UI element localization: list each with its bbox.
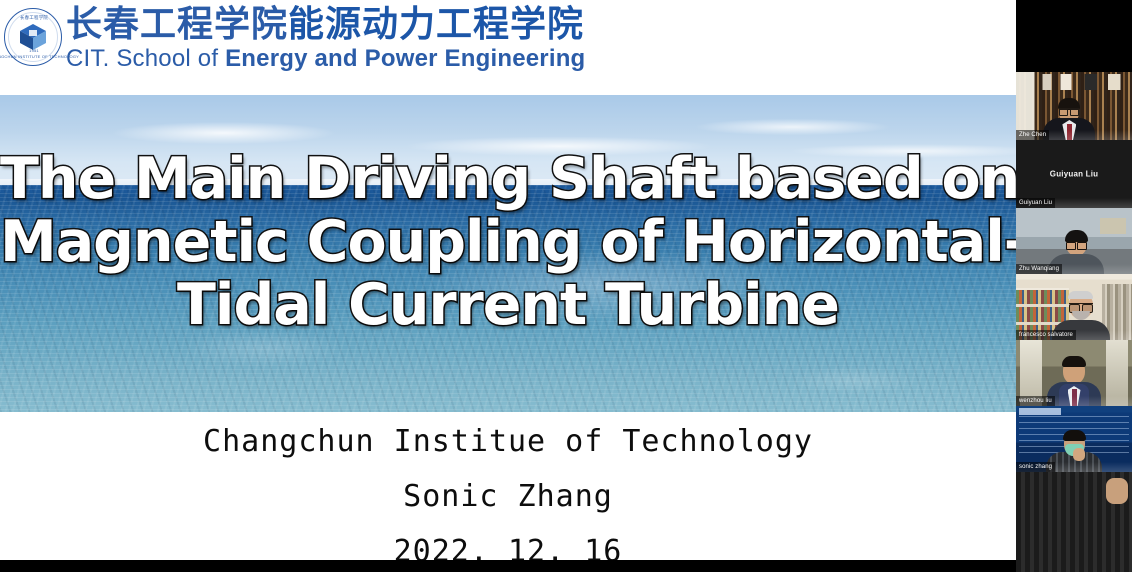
participant-name-label: francesco salvatore [1016,330,1076,340]
wordmark-chinese-school: 能源动力工程学院 [288,4,584,45]
participant-video-person [1049,358,1099,406]
wall-frames [1037,74,1128,90]
participant-tile-francesco-salvatore[interactable]: francesco salvatore [1016,274,1132,340]
wordmark-english: CIT. School of Energy and Power Engineer… [66,45,585,73]
participant-tile-sonic-zhang[interactable]: sonic zhang [1016,406,1132,472]
filmstrip-top-gap [1016,0,1132,72]
glasses-icon [1059,108,1079,113]
glasses-icon [1069,303,1093,310]
participant-video-person [1096,472,1130,518]
title-line-2: Magnetic Coupling of Horizontal-axis [0,211,1016,274]
participant-center-name: Guiyuan Liu [1016,170,1132,179]
logo-ring-top-text: 长春工程学院 [20,15,48,21]
title-line-1: The Main Driving Shaft based on [0,148,1016,211]
participant-name-label: Zhe Chen [1016,130,1049,140]
participant-tile-zhe-chen[interactable]: Zhe Chen [1016,72,1132,140]
cube-logo-icon [18,22,48,52]
participant-name-label: wenzhou liu [1016,396,1055,406]
wordmark-english-bold: Energy and Power Engineering [225,45,585,72]
wordmark-english-prefix: CIT. School of [66,45,225,72]
background-slide-header [1019,408,1061,415]
title-line-3: Tidal Current Turbine [0,274,1016,337]
participant-tile-partial[interactable] [1016,472,1132,572]
participant-tile-wenzhou-liu[interactable]: wenzhou liu [1016,340,1132,406]
footer-presenter: Sonic Zhang [0,479,1016,514]
wordmark-chinese: 长春工程学院能源动力工程学院 [66,4,585,45]
bottom-black-bar [0,560,1132,572]
participant-video-person [1043,100,1095,140]
wall-panel [1100,218,1126,234]
participant-name-label: Guiyuan Liu [1016,198,1055,208]
shared-screen-content[interactable]: 长春工程学院 1951 CHANGCHUN INSTITUTE OF TECHN… [0,0,1016,560]
door-right [1106,340,1128,406]
wordmark-chinese-university: 长春工程学院 [66,4,288,45]
glasses-icon [1066,241,1087,247]
school-wordmark: 长春工程学院能源动力工程学院 CIT. School of Energy and… [66,4,585,73]
participant-name-label: Zhu Wanqiang [1016,264,1062,274]
slide-footer: Changchun Institue of Technology Sonic Z… [0,412,1016,560]
footer-date: 2022. 12. 16 [0,534,1016,560]
slide-header: 长春工程学院 1951 CHANGCHUN INSTITUTE OF TECHN… [0,0,1016,95]
participant-name-label: sonic zhang [1016,462,1055,472]
participant-filmstrip[interactable]: Zhe Chen Guiyuan Liu Guiyuan Liu Zhu Wan… [1016,0,1132,572]
university-logo: 长春工程学院 1951 CHANGCHUN INSTITUTE OF TECHN… [4,8,62,66]
footer-organization: Changchun Institue of Technology [0,424,1016,459]
participant-tile-guiyuan-liu[interactable]: Guiyuan Liu Guiyuan Liu [1016,140,1132,208]
participant-tile-zhu-wanqiang[interactable]: Zhu Wanqiang [1016,208,1132,274]
page-title: The Main Driving Shaft based on Magnetic… [0,148,1016,337]
meeting-screen: 长春工程学院 1951 CHANGCHUN INSTITUTE OF TECHN… [0,0,1132,572]
